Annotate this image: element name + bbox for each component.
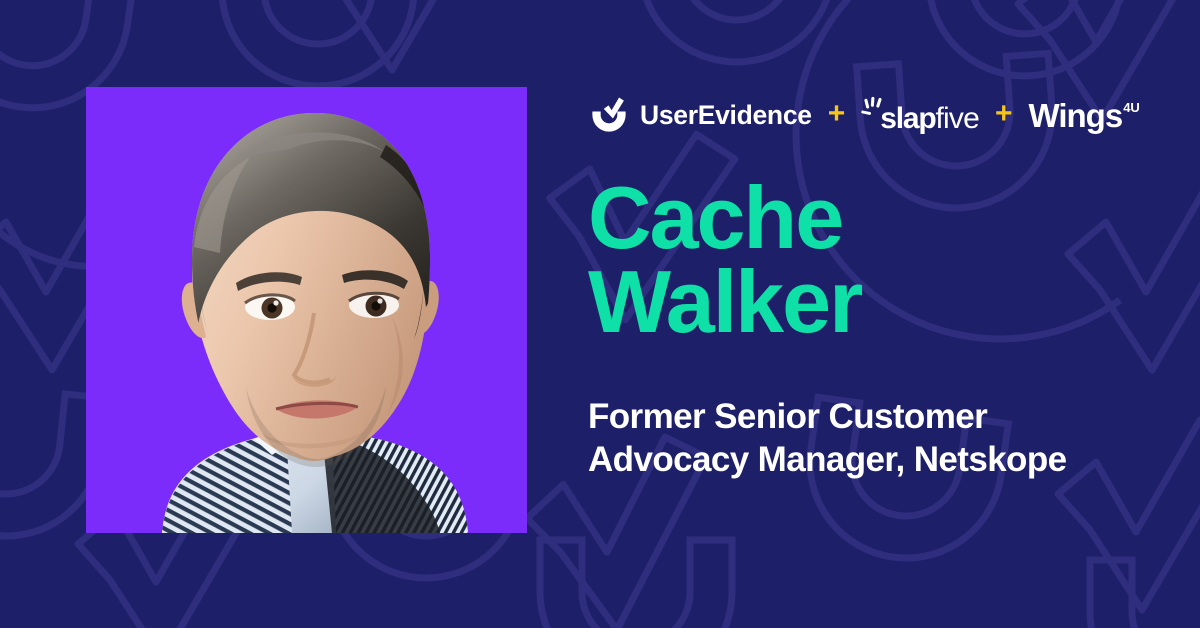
speaker-headshot-image bbox=[86, 87, 527, 533]
userevidence-wordmark: UserEvidence bbox=[640, 102, 812, 129]
speaker-photo-frame bbox=[86, 87, 527, 533]
promo-banner: UserEvidence + slap five + Wings4U bbox=[0, 0, 1200, 628]
speaker-last-name: Walker bbox=[588, 260, 1200, 344]
slapfive-wordmark-light: five bbox=[935, 104, 979, 134]
speaker-job-title: Former Senior Customer Advocacy Manager,… bbox=[588, 396, 1200, 481]
userevidence-checkmark-bowl-icon bbox=[588, 94, 630, 136]
speaker-job-title-line-2: Advocacy Manager, Netskope bbox=[588, 439, 1200, 482]
logo-separator-plus-1: + bbox=[828, 99, 846, 131]
wings4u-logo: Wings4U bbox=[1029, 99, 1139, 132]
partner-logo-lockup: UserEvidence + slap five + Wings4U bbox=[588, 88, 1139, 142]
slapfive-wordmark-bold: slap bbox=[880, 104, 935, 134]
userevidence-logo: UserEvidence bbox=[588, 94, 812, 136]
content-column: UserEvidence + slap five + Wings4U bbox=[588, 0, 1200, 628]
wings-wordmark-text: Wings bbox=[1029, 97, 1123, 134]
wings-wordmark: Wings4U bbox=[1029, 99, 1139, 132]
logo-separator-plus-2: + bbox=[995, 99, 1013, 131]
slapfive-logo: slap five bbox=[861, 96, 979, 134]
speaker-job-title-line-1: Former Senior Customer bbox=[588, 396, 1200, 439]
wings-superscript-4u: 4U bbox=[1123, 100, 1140, 115]
speaker-name: Cache Walker bbox=[588, 176, 1200, 343]
speaker-first-name: Cache bbox=[588, 176, 1200, 260]
